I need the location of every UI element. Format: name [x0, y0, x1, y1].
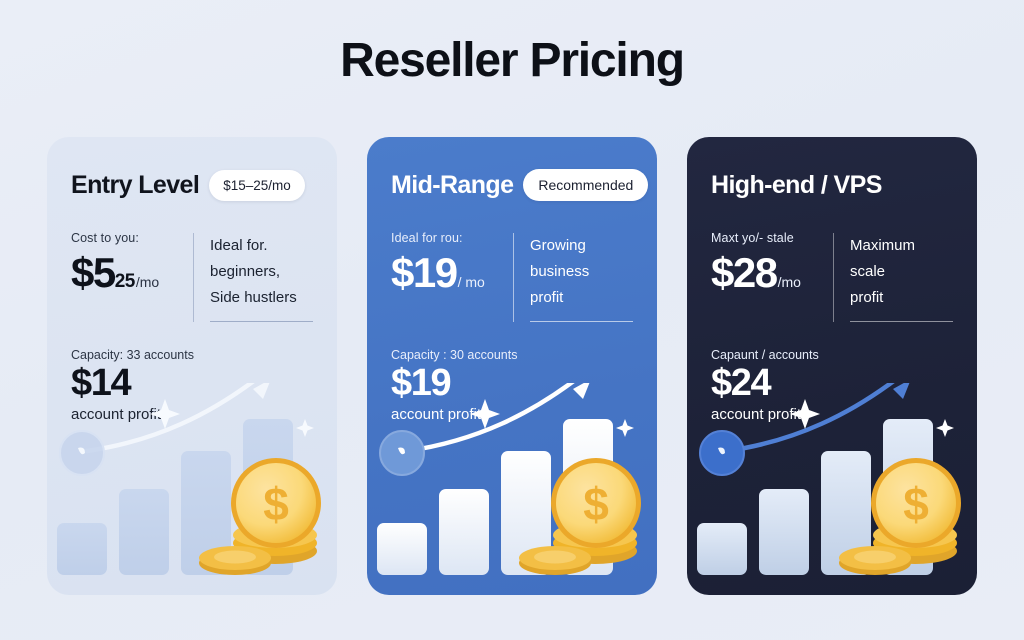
pricing-card-entry-level[interactable]: Entry Level $15–25/mo Cost to you: $5 25… [47, 137, 337, 595]
card-body: Maxt yo/- stale $28 /mo Maximum scale pr… [711, 231, 953, 322]
growth-chart-illustration: $ [47, 383, 337, 595]
feature-underline [850, 321, 953, 322]
card-header: Entry Level $15–25/mo [71, 165, 313, 205]
plan-name: Mid-Range [391, 171, 513, 200]
card-header: Mid-Range Recommended [391, 165, 633, 205]
page-title: Reseller Pricing [0, 33, 1024, 88]
feature-column: Growing business profit [530, 231, 633, 322]
capacity-label: Capacity : 30 accounts [391, 348, 633, 362]
price-major: $19 [391, 252, 457, 294]
cost-label: Ideal for rou: [391, 231, 509, 245]
feature-line-2: profit [530, 285, 633, 311]
cost-column: Ideal for rou: $19 / mo [391, 231, 509, 322]
feature-line-1: Maximum scale [850, 233, 953, 285]
feature-underline [530, 321, 633, 322]
feature-line-2: Side hustlers [210, 285, 313, 311]
feature-line-1: Ideal for. beginners, [210, 233, 313, 285]
pricing-card-high-end-vps[interactable]: High-end / VPS Maxt yo/- stale $28 /mo M… [687, 137, 977, 595]
column-divider [193, 233, 194, 322]
growth-chart-illustration: $ [367, 383, 657, 595]
feature-column: Ideal for. beginners, Side hustlers [210, 231, 313, 322]
pricing-page: Reseller Pricing Entry Level $15–25/mo C… [0, 0, 1024, 640]
svg-text:$: $ [583, 478, 609, 530]
price-row: $5 25 /mo [71, 252, 189, 294]
card-body: Cost to you: $5 25 /mo Ideal for. beginn… [71, 231, 313, 322]
plan-name: Entry Level [71, 171, 199, 200]
price-range-badge: $15–25/mo [209, 170, 305, 201]
price-row: $19 / mo [391, 252, 509, 294]
price-minor: 25 [115, 271, 135, 293]
svg-text:$: $ [903, 478, 929, 530]
cost-column: Cost to you: $5 25 /mo [71, 231, 189, 322]
price-period: / mo [458, 274, 485, 290]
card-header: High-end / VPS [711, 165, 953, 205]
cost-label: Maxt yo/- stale [711, 231, 829, 245]
price-major: $28 [711, 252, 777, 294]
column-divider [513, 233, 514, 322]
pricing-card-list: Entry Level $15–25/mo Cost to you: $5 25… [47, 137, 977, 595]
column-divider [833, 233, 834, 322]
growth-chart-illustration: $ [687, 383, 977, 595]
svg-text:$: $ [263, 478, 289, 530]
pricing-card-mid-range[interactable]: Mid-Range Recommended Ideal for rou: $19… [367, 137, 657, 595]
cost-column: Maxt yo/- stale $28 /mo [711, 231, 829, 322]
price-period: /mo [136, 274, 159, 290]
price-major: $5 [71, 252, 115, 294]
plan-name: High-end / VPS [711, 171, 882, 200]
card-body: Ideal for rou: $19 / mo Growing business… [391, 231, 633, 322]
capacity-label: Capaunt / accounts [711, 348, 953, 362]
cost-label: Cost to you: [71, 231, 189, 245]
feature-underline [210, 321, 313, 322]
price-period: /mo [778, 274, 801, 290]
feature-line-1: Growing business [530, 233, 633, 285]
capacity-label: Capacity: 33 accounts [71, 348, 313, 362]
recommended-badge: Recommended [523, 169, 648, 201]
price-row: $28 /mo [711, 252, 829, 294]
feature-column: Maximum scale profit [850, 231, 953, 322]
feature-line-2: profit [850, 285, 953, 311]
